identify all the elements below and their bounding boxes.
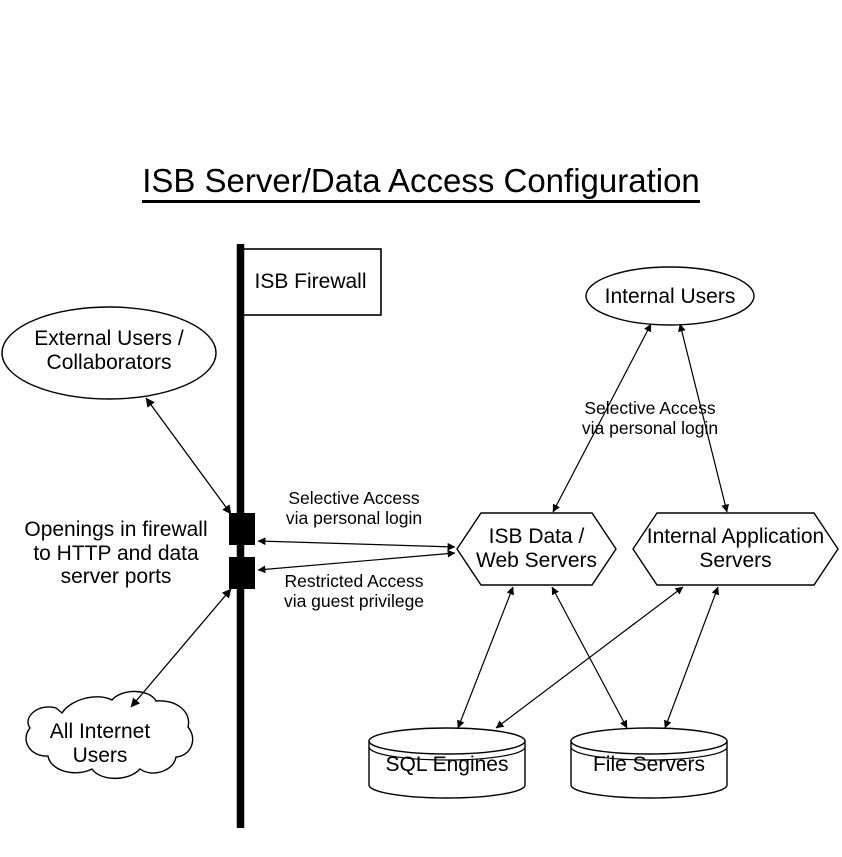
all-internet-users-shape xyxy=(26,691,193,778)
edge-isb-data-sql-engines xyxy=(458,587,513,728)
edge-internal-app-sql-engines xyxy=(496,587,683,728)
isb-firewall-box-shape xyxy=(240,249,381,315)
edge-internal-users-internal-app xyxy=(680,324,727,512)
external-users-shape xyxy=(2,307,216,399)
isb-data-web-servers-shape xyxy=(457,513,616,585)
edge-firewall-upper-isb-data xyxy=(258,541,455,547)
edge-internet-users-firewall xyxy=(131,589,231,707)
firewall-opening-lower xyxy=(229,557,255,589)
file-servers-shape xyxy=(571,728,727,798)
edge-firewall-lower-isb-data xyxy=(258,553,455,570)
diagram-canvas: ISB Server/Data Access Configuration xyxy=(0,0,842,857)
internal-users-shape xyxy=(586,267,754,325)
diagram-graphics xyxy=(0,0,842,857)
edge-external-users-firewall xyxy=(146,398,231,514)
edge-internal-users-isb-data xyxy=(553,324,651,512)
internal-application-servers-shape xyxy=(633,513,838,585)
sql-engines-shape xyxy=(369,728,525,798)
firewall-opening-upper xyxy=(229,513,255,545)
edge-internal-app-file-servers xyxy=(665,587,718,728)
